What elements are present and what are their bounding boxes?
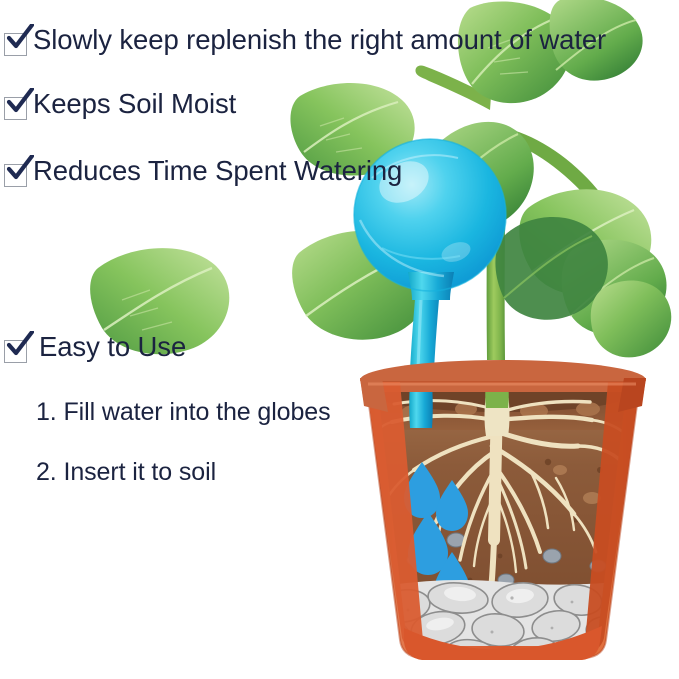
checkbox-checked-icon: [4, 33, 27, 56]
feature-label: Slowly keep replenish the right amount o…: [33, 26, 606, 54]
checkbox-checked-icon: [4, 97, 27, 120]
checkbox-checked-icon: [4, 340, 27, 363]
feature-item-2: Reduces Time Spent Watering: [4, 157, 402, 187]
feature-item-0: Slowly keep replenish the right amount o…: [4, 26, 606, 56]
feature-label: Keeps Soil Moist: [33, 90, 236, 118]
step-item-2: 2. Insert it to soil: [36, 458, 216, 487]
feature-item-3: Easy to Use: [4, 333, 186, 363]
feature-item-1: Keeps Soil Moist: [4, 90, 236, 120]
checkbox-checked-icon: [4, 164, 27, 187]
step-item-1: 1. Fill water into the globes: [36, 398, 330, 427]
feature-label: Reduces Time Spent Watering: [33, 157, 402, 185]
text-overlay: Slowly keep replenish the right amount o…: [0, 0, 679, 679]
feature-label: Easy to Use: [39, 333, 186, 361]
infographic-canvas: Slowly keep replenish the right amount o…: [0, 0, 679, 679]
